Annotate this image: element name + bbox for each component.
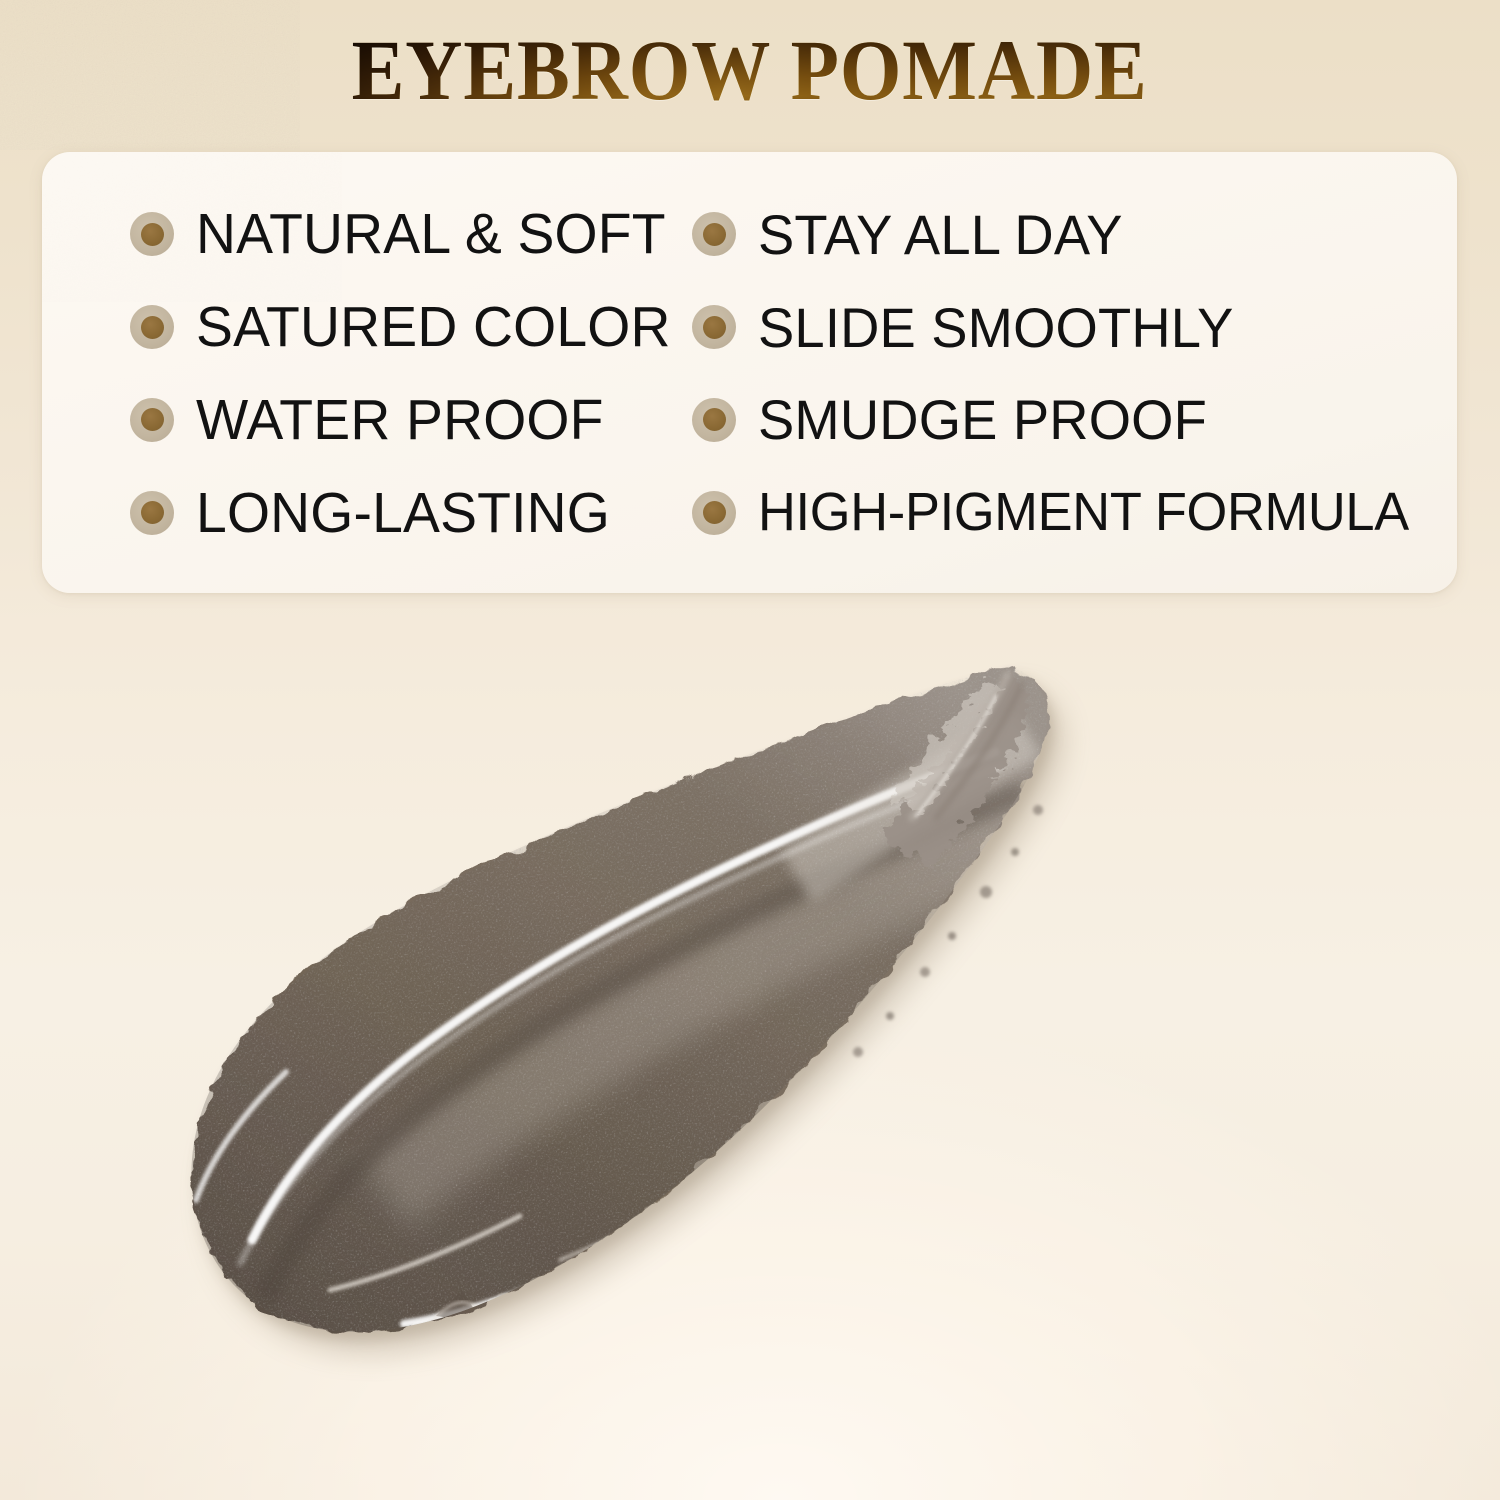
bullet-dot-icon	[130, 212, 174, 256]
swatch-surface-detail	[0, 600, 1500, 1500]
feature-grid: NATURAL & SOFT STAY ALL DAY SATURED COLO…	[42, 152, 1457, 593]
pomade-swatch-image	[0, 600, 1500, 1500]
product-infographic: EYEBROW POMADE NATURAL & SOFT	[0, 0, 1500, 1500]
feature-label: SLIDE SMOOTHLY	[758, 299, 1234, 356]
feature-item-natural-and-soft: NATURAL & SOFT	[42, 205, 642, 263]
feature-item-stay-all-day: STAY ALL DAY	[642, 206, 1457, 263]
feature-item-long-lasting: LONG-LASTING	[42, 484, 642, 542]
feature-label: LONG-LASTING	[196, 484, 610, 542]
feature-label: SMUDGE PROOF	[758, 391, 1207, 448]
feature-item-water-proof: WATER PROOF	[42, 391, 642, 449]
feature-list-card: NATURAL & SOFT STAY ALL DAY SATURED COLO…	[42, 152, 1457, 593]
feature-label: SATURED COLOR	[196, 298, 671, 356]
bullet-dot-icon	[692, 398, 736, 442]
bullet-dot-icon	[692, 305, 736, 349]
feature-item-satured-color: SATURED COLOR	[42, 298, 642, 356]
feature-label: WATER PROOF	[196, 391, 604, 449]
bullet-dot-icon	[130, 305, 174, 349]
page-title-container: EYEBROW POMADE	[0, 24, 1500, 116]
page-title: EYEBROW POMADE	[352, 27, 1148, 113]
feature-item-slide-smoothly: SLIDE SMOOTHLY	[642, 299, 1457, 356]
bullet-dot-icon	[692, 491, 736, 535]
feature-label: NATURAL & SOFT	[196, 205, 666, 263]
feature-label: STAY ALL DAY	[758, 206, 1123, 263]
bullet-dot-icon	[130, 491, 174, 535]
product-swatch-container	[0, 600, 1500, 1500]
feature-item-high-pigment-formula: HIGH-PIGMENT FORMULA	[642, 485, 1457, 540]
feature-item-smudge-proof: SMUDGE PROOF	[642, 391, 1457, 448]
feature-label: HIGH-PIGMENT FORMULA	[758, 485, 1409, 540]
bullet-dot-icon	[692, 212, 736, 256]
bullet-dot-icon	[130, 398, 174, 442]
